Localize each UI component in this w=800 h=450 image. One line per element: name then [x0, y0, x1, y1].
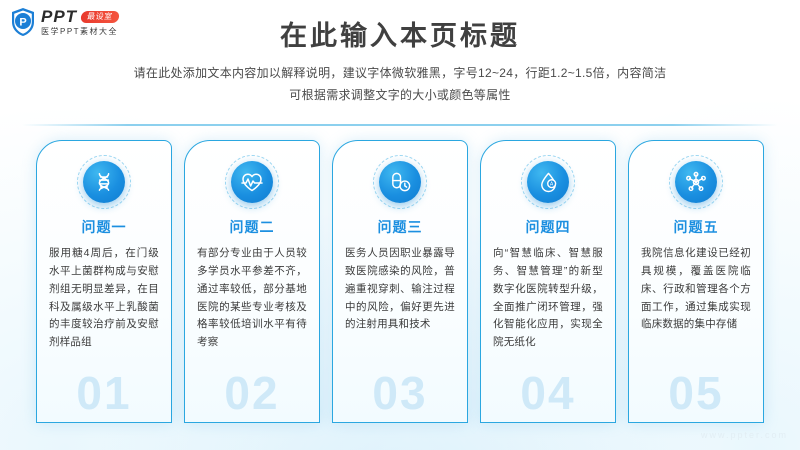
- subtitle-line-1: 请在此处添加文本内容加以解释说明，建议字体微软雅黑，字号12~24，行距1.2~…: [0, 62, 800, 84]
- card-heading: 问题四: [481, 217, 615, 237]
- card-heading: 问题三: [333, 217, 467, 237]
- card-item-5[interactable]: 问题五 我院信息化建设已经初具规模，覆盖医院临床、行政和管理各个方面工作，通过集…: [628, 140, 764, 423]
- card-number: 05: [629, 370, 763, 416]
- page-title: 在此输入本页标题: [0, 14, 800, 53]
- card-icon-wrap: [77, 155, 131, 209]
- card-heading: 问题五: [629, 217, 763, 237]
- card-item-2[interactable]: 问题二 有部分专业由于人员较多学员水平参差不齐，通过率较低，部分基地医院的某些专…: [184, 140, 320, 423]
- card-body: 有部分专业由于人员较多学员水平参差不齐，通过率较低，部分基地医院的某些专业考核及…: [197, 245, 307, 352]
- heartbeat-icon: [231, 161, 273, 203]
- subtitle-line-2: 可根据需求调整文字的大小或颜色等属性: [0, 84, 800, 106]
- card-icon-wrap: [225, 155, 279, 209]
- card-number: 01: [37, 370, 171, 416]
- card-number: 02: [185, 370, 319, 416]
- card-body: 向“智慧临床、智慧服务、智慧管理”的新型数字化医院转型升级，全面推广闭环管理，强…: [493, 245, 603, 352]
- card-number: 04: [481, 370, 615, 416]
- pill-clock-icon: [379, 161, 421, 203]
- card-body: 医务人员因职业暴露导致医院感染的风险，普遍重视穿刺、输注过程中的风险，偏好更先进…: [345, 245, 455, 334]
- card-icon-wrap: [669, 155, 723, 209]
- page-subtitle: 请在此处添加文本内容加以解释说明，建议字体微软雅黑，字号12~24，行距1.2~…: [0, 62, 800, 106]
- card-heading: 问题二: [185, 217, 319, 237]
- card-icon-wrap: A: [521, 155, 575, 209]
- dna-icon: [83, 161, 125, 203]
- card-row: 问题一 服用糖4周后，在门级水平上菌群构成与安慰剂组无明显差异，在目科及属级水平…: [0, 140, 800, 425]
- header-divider: [22, 124, 778, 126]
- card-number: 03: [333, 370, 467, 416]
- card-body: 我院信息化建设已经初具规模，覆盖医院临床、行政和管理各个方面工作，通过集成实现临…: [641, 245, 751, 334]
- svg-text:A: A: [549, 181, 553, 187]
- card-body: 服用糖4周后，在门级水平上菌群构成与安慰剂组无明显差异，在目科及属级水平上乳酸菌…: [49, 245, 159, 352]
- card-item-3[interactable]: 问题三 医务人员因职业暴露导致医院感染的风险，普遍重视穿刺、输注过程中的风险，偏…: [332, 140, 468, 423]
- blood-drop-icon: A: [527, 161, 569, 203]
- molecule-network-icon: [675, 161, 717, 203]
- card-heading: 问题一: [37, 217, 171, 237]
- card-icon-wrap: [373, 155, 427, 209]
- card-item-1[interactable]: 问题一 服用糖4周后，在门级水平上菌群构成与安慰剂组无明显差异，在目科及属级水平…: [36, 140, 172, 423]
- watermark: www.ppter.com: [701, 430, 788, 440]
- card-item-4[interactable]: A 问题四 向“智慧临床、智慧服务、智慧管理”的新型数字化医院转型升级，全面推广…: [480, 140, 616, 423]
